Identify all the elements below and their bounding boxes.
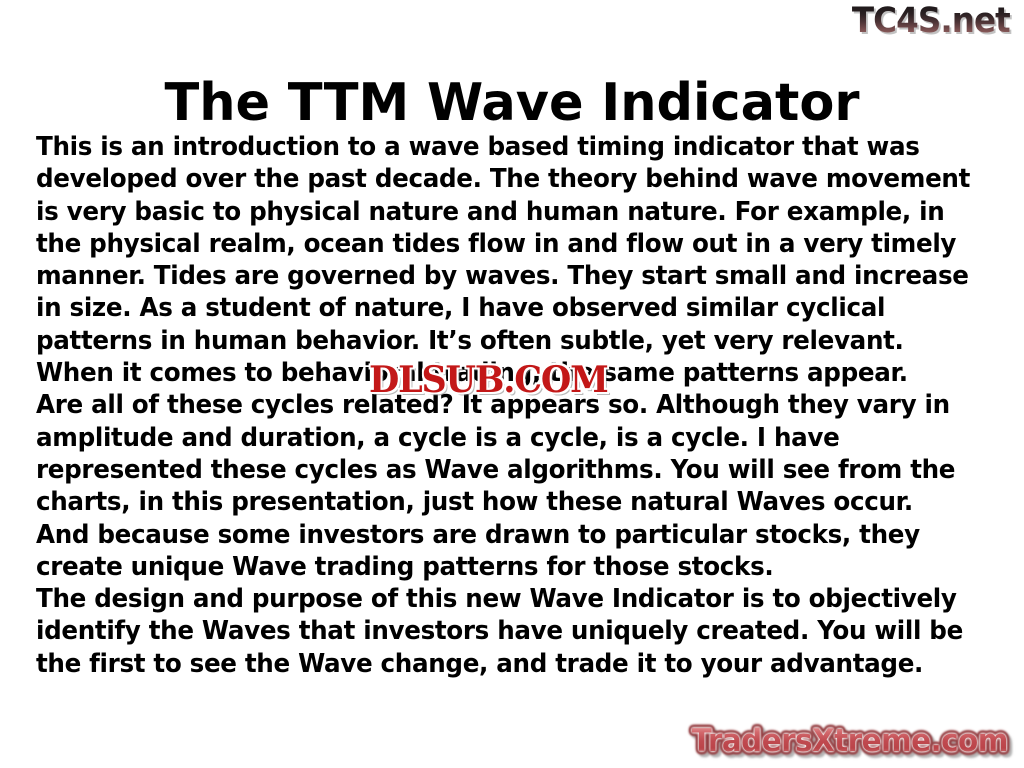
body-line: developed over the past decade. The theo… (36, 163, 962, 195)
body-line: charts, in this presentation, just how t… (36, 486, 962, 518)
body-line: patterns in human behavior. It’s often s… (36, 325, 962, 357)
body-line: the first to see the Wave change, and tr… (36, 648, 962, 680)
body-line: identify the Waves that investors have u… (36, 615, 962, 647)
body-line: the physical realm, ocean tides flow in … (36, 228, 962, 260)
body-line: create unique Wave trading patterns for … (36, 551, 962, 583)
brand-logo-tradersxtreme: TradersXtreme.com (692, 725, 1008, 758)
brand-logo-tc4s: TC4S.net (852, 4, 1010, 39)
slide-body-text: This is an introduction to a wave based … (36, 131, 962, 680)
body-line: And because some investors are drawn to … (36, 519, 962, 551)
page-title: The TTM Wave Indicator (10, 73, 1014, 133)
body-line: in size. As a student of nature, I have … (36, 292, 962, 324)
body-line: When it comes to behavioral trading, the… (36, 357, 962, 389)
body-line: Are all of these cycles related? It appe… (36, 389, 962, 421)
presentation-slide: TC4S.net The TTM Wave Indicator This is … (0, 0, 1024, 768)
body-line: manner. Tides are governed by waves. The… (36, 260, 962, 292)
body-line: The design and purpose of this new Wave … (36, 583, 962, 615)
body-line: is very basic to physical nature and hum… (36, 196, 962, 228)
paragraph-purpose: The design and purpose of this new Wave … (36, 583, 962, 680)
body-line: amplitude and duration, a cycle is a cyc… (36, 422, 962, 454)
body-line: represented these cycles as Wave algorit… (36, 454, 962, 486)
body-line: This is an introduction to a wave based … (36, 131, 962, 163)
paragraph-intro: This is an introduction to a wave based … (36, 131, 962, 583)
